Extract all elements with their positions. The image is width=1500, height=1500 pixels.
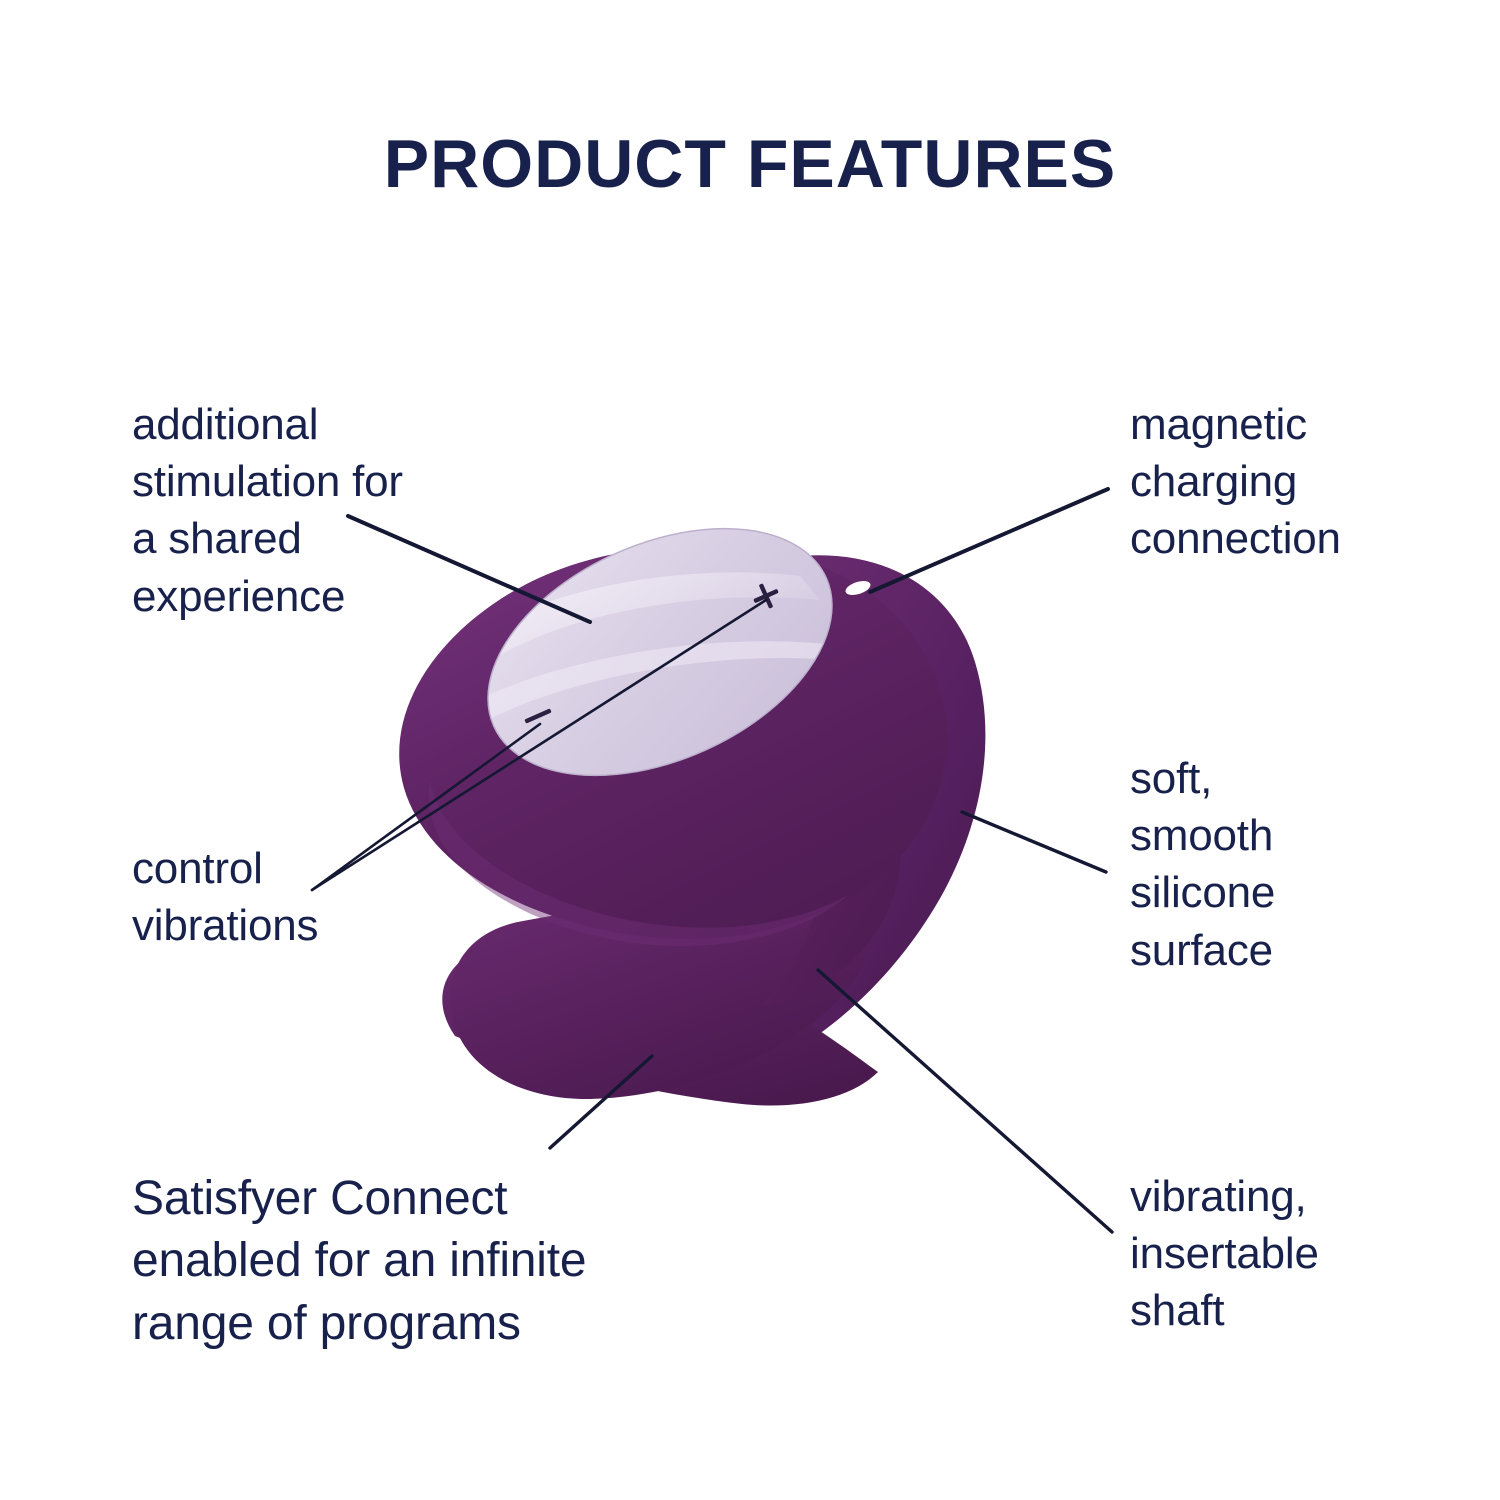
charging-contact-icon	[794, 561, 822, 580]
product-shaft-arm	[442, 934, 878, 1105]
leader-line-vibrating	[818, 970, 1112, 1232]
leader-line-magnetic	[870, 489, 1108, 592]
callout-satisfyer-connect: Satisfyer Connect enabled for an infinit…	[132, 1168, 692, 1355]
callout-vibrating-shaft: vibrating, insertable shaft	[1130, 1168, 1460, 1340]
leader-line-connect	[550, 1056, 652, 1148]
charging-contact-icon	[844, 578, 872, 597]
callout-magnetic-charging: magnetic charging connection	[1130, 396, 1470, 568]
product-back-arc	[724, 555, 985, 1068]
callout-additional-stimulation: additional stimulation for a shared expe…	[132, 396, 552, 625]
callout-control-vibrations: control vibrations	[132, 840, 532, 954]
decrease-button-icon[interactable]	[524, 708, 551, 723]
product-features-infographic: PRODUCT FEATURES	[0, 0, 1500, 1500]
callout-soft-silicone: soft, smooth silicone surface	[1130, 750, 1430, 979]
increase-button-icon[interactable]	[749, 579, 783, 613]
leader-line-soft	[962, 812, 1106, 872]
page-title: PRODUCT FEATURES	[0, 130, 1500, 198]
product-inner-ridge	[700, 672, 901, 1006]
